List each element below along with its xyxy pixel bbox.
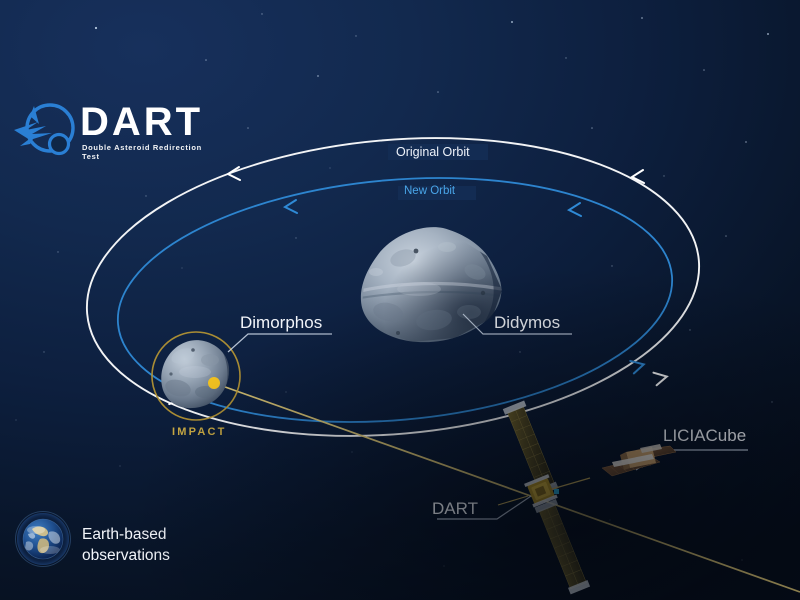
earth-label-line-1: Earth-based xyxy=(82,524,170,545)
liciacube-spacecraft xyxy=(0,0,800,600)
earth-label-line-2: observations xyxy=(82,545,170,566)
dart-mission-diagram: Original Orbit New Orbit xyxy=(0,0,800,600)
dart-logo-wordmark: DART xyxy=(80,100,203,144)
dart-logo-tagline: Double Asteroid Redirection Test xyxy=(82,143,210,161)
earth-observations-label: Earth-based observations xyxy=(82,524,170,566)
earth-globe-icon xyxy=(16,512,70,566)
dart-logo[interactable]: DART Double Asteroid Redirection Test xyxy=(10,98,210,166)
dart-spacecraft-logo-icon xyxy=(12,100,80,162)
